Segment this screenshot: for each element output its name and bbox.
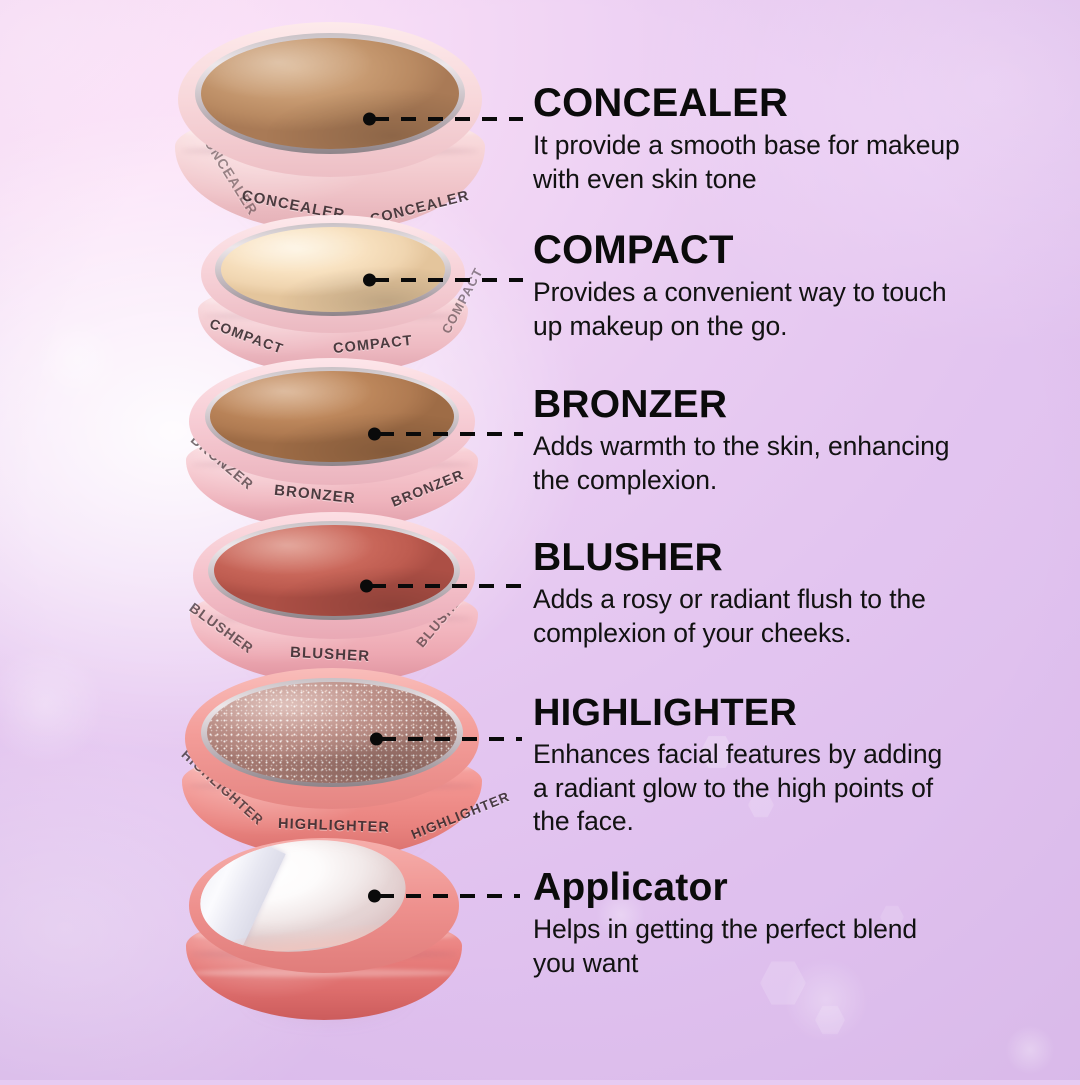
- compact-rim-ring: [193, 512, 475, 639]
- connector-compact: [363, 272, 523, 288]
- description-highlighter: Enhances facial features by adding a rad…: [533, 738, 963, 839]
- heading-bronzer: BRONZER: [533, 385, 963, 424]
- connector-dash: [379, 432, 523, 436]
- product-compact-blusher[interactable]: BLUSHER BLUSHER BLUSHER: [190, 512, 478, 684]
- connector-dash: [381, 737, 522, 741]
- compact-rim-ring: [178, 22, 482, 177]
- connector-dash: [379, 894, 520, 898]
- connector-highlighter: [370, 731, 522, 747]
- connector-concealer: [363, 111, 523, 127]
- product-compact-applicator[interactable]: [186, 838, 462, 1020]
- heading-applicator: Applicator: [533, 868, 963, 907]
- text-block-concealer: CONCEALER It provide a smooth base for m…: [533, 83, 963, 196]
- text-block-highlighter: HIGHLIGHTER Enhances facial features by …: [533, 694, 963, 839]
- connector-bronzer: [368, 426, 523, 442]
- product-pan-blusher[interactable]: [214, 525, 454, 617]
- text-block-bronzer: BRONZER Adds warmth to the skin, enhanci…: [533, 385, 963, 497]
- description-applicator: Helps in getting the perfect blend you w…: [533, 913, 963, 980]
- connector-dash: [374, 278, 523, 282]
- product-pan-concealer[interactable]: [201, 38, 459, 150]
- product-compact-concealer[interactable]: CONCEALER CONCEALER CONCEALER: [175, 22, 485, 232]
- connector-applicator: [368, 888, 520, 904]
- product-pan-bronzer[interactable]: [210, 371, 453, 463]
- infographic-stage: CONCEALER CONCEALER CONCEALER CONCEALER …: [0, 0, 1080, 1080]
- product-compact-compact[interactable]: COMPACT COMPACT COMPACT: [198, 215, 468, 375]
- description-blusher: Adds a rosy or radiant flush to the comp…: [533, 583, 963, 650]
- connector-dash: [374, 117, 523, 121]
- pan-gloss: [201, 38, 459, 150]
- compact-rim-ring: [189, 838, 460, 973]
- description-compact: Provides a convenient way to touch up ma…: [533, 276, 963, 343]
- pan-gloss: [221, 227, 446, 312]
- product-pan-compact[interactable]: [221, 227, 446, 312]
- description-bronzer: Adds warmth to the skin, enhancing the c…: [533, 430, 963, 497]
- text-block-applicator: Applicator Helps in getting the perfect …: [533, 868, 963, 980]
- heading-compact: COMPACT: [533, 230, 963, 270]
- text-block-compact: COMPACT Provides a convenient way to tou…: [533, 230, 963, 343]
- heading-blusher: BLUSHER: [533, 538, 963, 577]
- pan-gloss: [214, 525, 454, 617]
- compact-rim-ring: [189, 358, 475, 485]
- product-compact-bronzer[interactable]: BRONZER BRONZER BRONZER: [186, 358, 478, 530]
- text-block-blusher: BLUSHER Adds a rosy or radiant flush to …: [533, 538, 963, 650]
- connector-blusher: [360, 578, 522, 594]
- description-concealer: It provide a smooth base for makeup with…: [533, 129, 963, 196]
- heading-highlighter: HIGHLIGHTER: [533, 694, 963, 732]
- product-compact-highlighter[interactable]: HIGHLIGHTER HIGHLIGHTER HIGHLIGHTER: [182, 668, 482, 858]
- connector-dash: [371, 584, 522, 588]
- pan-gloss: [210, 371, 453, 463]
- heading-concealer: CONCEALER: [533, 83, 963, 123]
